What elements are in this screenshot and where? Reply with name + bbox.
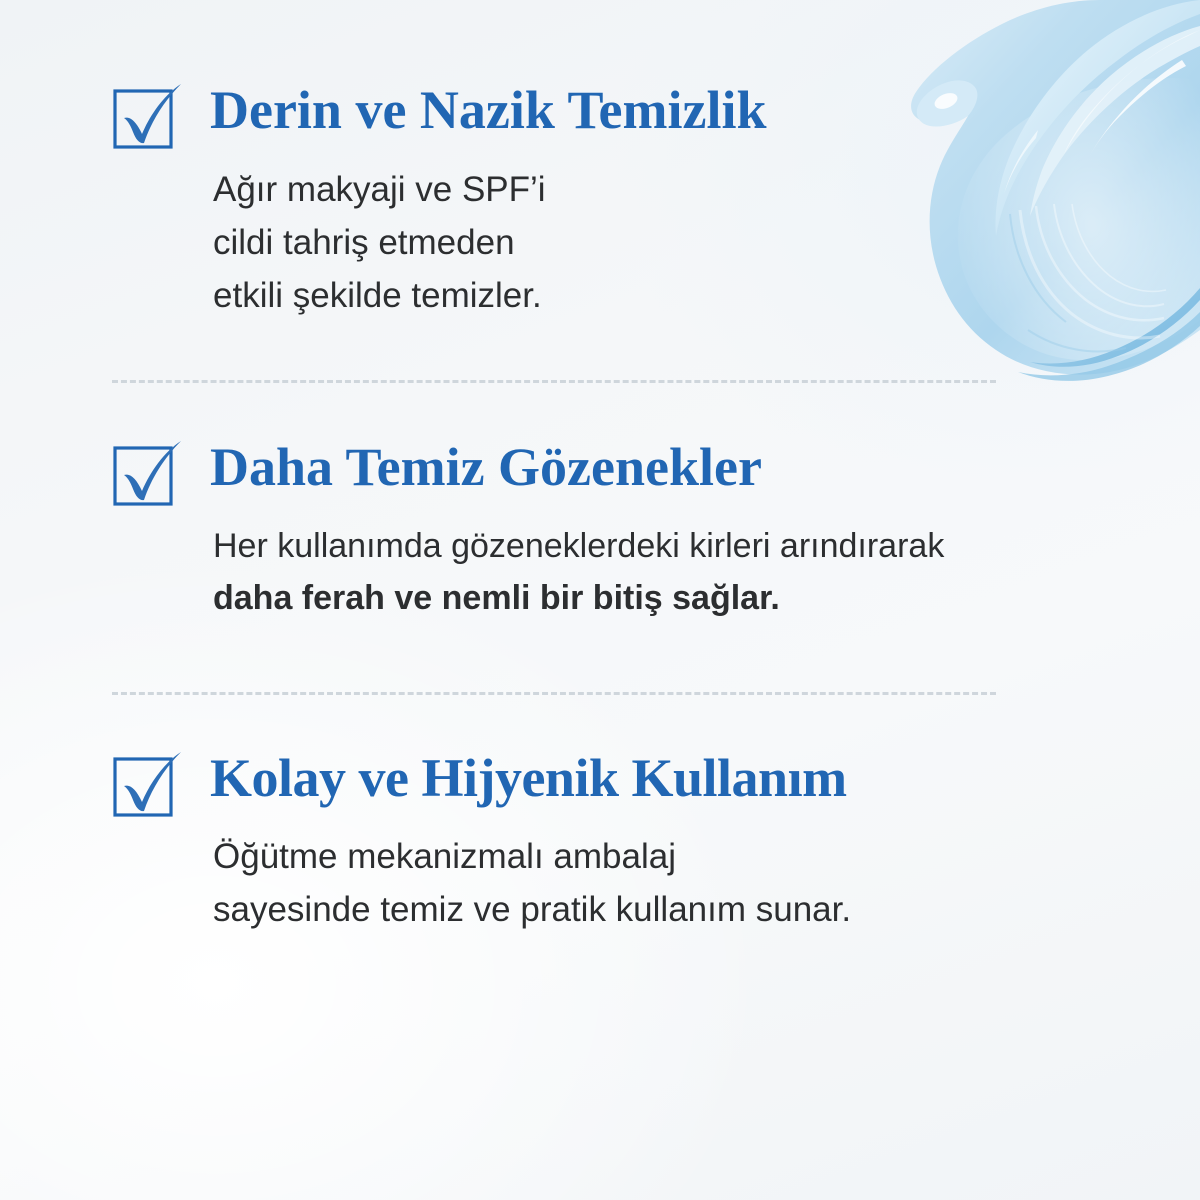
feature-description-line: Her kullanımda gözeneklerdeki kirleri ar… (213, 521, 1112, 573)
feature-item: Derin ve Nazik Temizlik Ağır makyaji ve … (112, 80, 1112, 323)
feature-description: Ağır makyaji ve SPF’i cildi tahriş etmed… (112, 163, 1112, 323)
feature-description-line: sayesinde temiz ve pratik kullanım sunar… (213, 883, 1112, 936)
feature-description-line-emphasis: daha ferah ve nemli bir bitiş sağlar. (213, 573, 1112, 625)
checkbox-checked-icon (112, 439, 184, 507)
checkbox-checked-icon (112, 82, 184, 150)
feature-description-line: etkili şekilde temizler. (213, 269, 1112, 322)
feature-description: Her kullanımda gözeneklerdeki kirleri ar… (112, 521, 1112, 624)
feature-description: Öğütme mekanizmalı ambalaj sayesinde tem… (112, 830, 1112, 936)
feature-description-line: Öğütme mekanizmalı ambalaj (213, 830, 1112, 883)
feature-item: Kolay ve Hijyenik Kullanım Öğütme mekani… (112, 748, 1112, 936)
feature-description-line: cildi tahriş etmeden (213, 216, 1112, 269)
section-divider (112, 380, 996, 383)
section-divider (112, 692, 996, 695)
feature-item: Daha Temiz Gözenekler Her kullanımda göz… (112, 437, 1112, 624)
feature-title: Derin ve Nazik Temizlik (210, 80, 766, 140)
product-benefits-infographic: Derin ve Nazik Temizlik Ağır makyaji ve … (0, 0, 1200, 1200)
checkbox-checked-icon (112, 750, 184, 818)
feature-header: Daha Temiz Gözenekler (112, 437, 1112, 507)
feature-header: Derin ve Nazik Temizlik (112, 80, 1112, 150)
feature-header: Kolay ve Hijyenik Kullanım (112, 748, 1112, 818)
feature-title: Daha Temiz Gözenekler (210, 437, 762, 497)
feature-description-line: Ağır makyaji ve SPF’i (213, 163, 1112, 216)
feature-title: Kolay ve Hijyenik Kullanım (210, 748, 847, 808)
